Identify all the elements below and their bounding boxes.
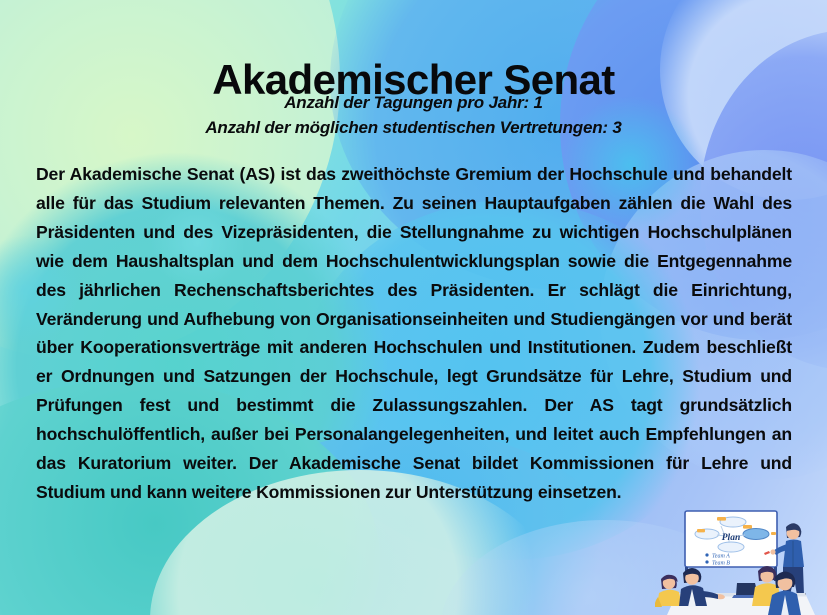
whiteboard-plan-label: Plan <box>722 533 740 543</box>
subtitle-meetings-per-year: Anzahl der Tagungen pro Jahr: 1 <box>0 93 827 113</box>
business-meeting-illustration: Plan Team A Team B <box>655 505 827 615</box>
whiteboard-team-a-label: Team A <box>712 554 730 560</box>
subtitle-student-representatives: Anzahl der möglichen studentischen Vertr… <box>0 118 827 138</box>
body-paragraph: Der Akademische Senat (AS) ist das zweit… <box>36 160 792 507</box>
slide-canvas: Akademischer Senat Anzahl der Tagungen p… <box>0 0 827 615</box>
whiteboard-team-b-label: Team B <box>712 561 730 567</box>
seated-person-left-woman <box>655 575 682 607</box>
